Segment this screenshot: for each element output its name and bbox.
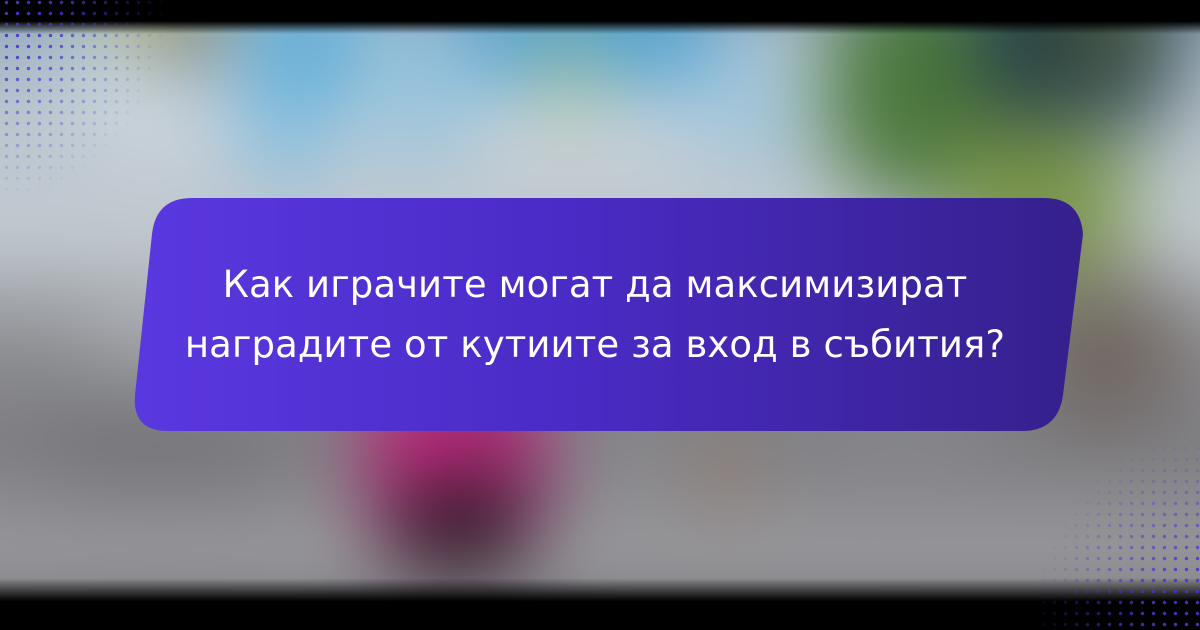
- background-shape-blue-3: [395, 35, 455, 155]
- background-shape-figure-legs: [395, 480, 525, 560]
- background-shape-blue-5: [700, 60, 810, 155]
- letterbox-bar-top: [0, 0, 1200, 34]
- headline-text: Как играчите могат да максимизират награ…: [100, 198, 1090, 431]
- background-shape-yellow-2: [552, 45, 586, 115]
- headline-line-1: Как играчите могат да максимизират: [223, 255, 968, 315]
- social-card-stage: Как играчите могат да максимизират награ…: [0, 0, 1200, 630]
- background-shape-orange: [710, 435, 742, 505]
- background-shape-grey-3: [560, 440, 790, 495]
- headline-line-2: наградите от кутиите за вход в събития?: [185, 315, 1005, 375]
- letterbox-bar-bottom: [0, 578, 1200, 630]
- headline-card: Как играчите могат да максимизират награ…: [100, 198, 1090, 431]
- background-shape-blue-4: [250, 75, 325, 185]
